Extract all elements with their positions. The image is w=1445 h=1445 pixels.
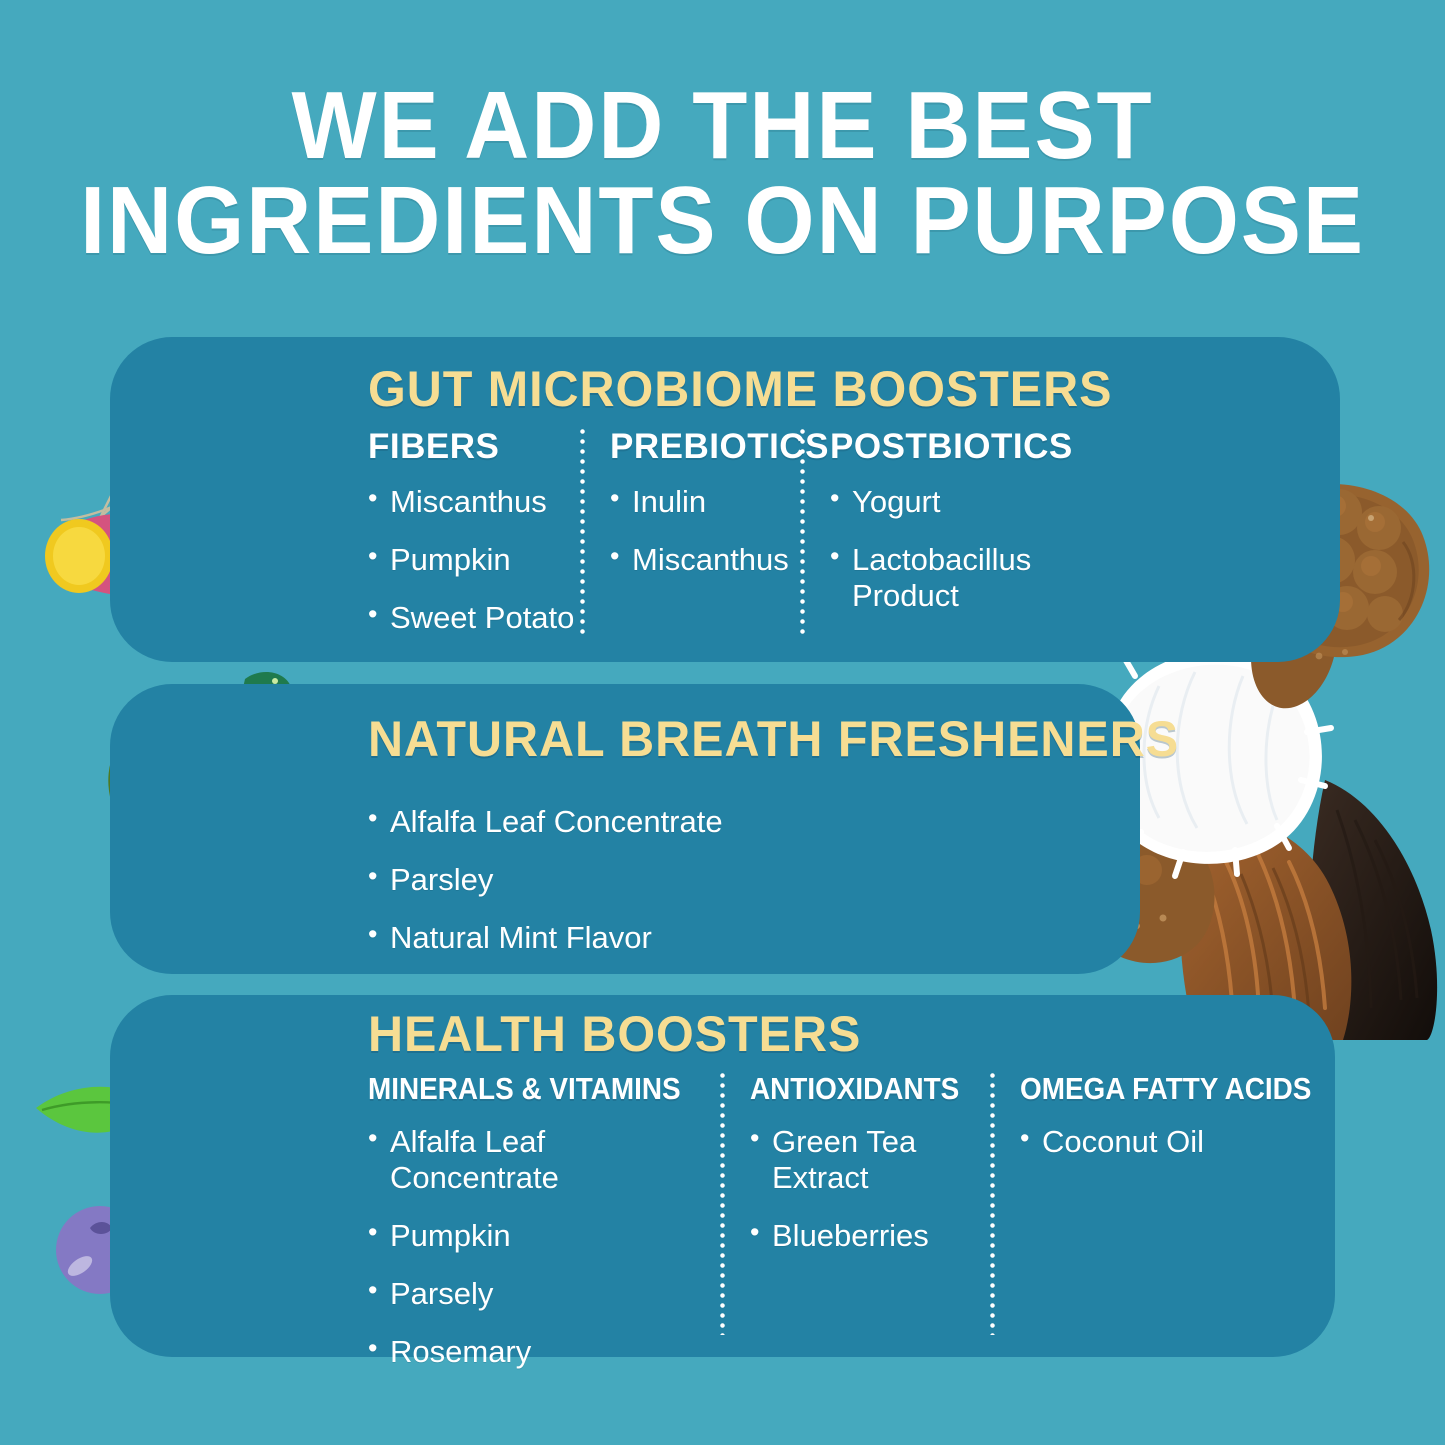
- column-antioxidants: ANTIOXIDANTS Green Tea Extract Blueberri…: [720, 1073, 990, 1370]
- column-head-antioxidants: ANTIOXIDANTS: [750, 1073, 966, 1104]
- list-breath-fresheners: Alfalfa Leaf Concentrate Parsley Natural…: [368, 804, 1088, 956]
- list-item: Inulin: [610, 484, 800, 520]
- column-divider-2: [800, 429, 805, 637]
- list-item: Blueberries: [750, 1218, 990, 1254]
- list-item: Natural Mint Flavor: [368, 920, 1088, 956]
- section-title-gut: GUT MICROBIOME BOOSTERS: [368, 364, 1112, 414]
- list-item: Miscanthus: [610, 542, 800, 578]
- column-omega-fatty-acids: OMEGA FATTY ACIDS Coconut Oil: [990, 1073, 1320, 1370]
- health-columns: MINERALS & VITAMINS Alfalfa Leaf Concent…: [368, 1073, 1328, 1370]
- list-item: Pumpkin: [368, 1218, 720, 1254]
- column-divider-4: [990, 1073, 995, 1335]
- column-head-omega-fatty-acids: OMEGA FATTY ACIDS: [1020, 1073, 1290, 1104]
- list-item: Alfalfa Leaf Concentrate: [368, 1124, 720, 1196]
- page-title: WE ADD THE BEST INGREDIENTS ON PURPOSE: [43, 78, 1401, 268]
- list-item: Rosemary: [368, 1334, 720, 1370]
- column-head-prebiotics: PREBIOTICS: [610, 429, 800, 464]
- card-natural-breath-fresheners: NATURAL BREATH FRESHENERS Alfalfa Leaf C…: [110, 684, 1140, 974]
- column-divider-1: [580, 429, 585, 637]
- page-title-line-1: WE ADD THE BEST: [43, 78, 1401, 173]
- list-antioxidants: Green Tea Extract Blueberries: [750, 1124, 990, 1254]
- infographic-poster: WE ADD THE BEST INGREDIENTS ON PURPOSE: [0, 0, 1445, 1445]
- list-item: Alfalfa Leaf Concentrate: [368, 804, 1088, 840]
- list-item: Parsely: [368, 1276, 720, 1312]
- column-fibers: FIBERS Miscanthus Pumpkin Sweet Potato: [368, 429, 580, 636]
- list-item: Yogurt: [830, 484, 1050, 520]
- section-title-health: HEALTH BOOSTERS: [368, 1009, 861, 1059]
- list-item: Parsley: [368, 862, 1088, 898]
- list-item: Lactobacillus Product: [830, 542, 1050, 614]
- list-postbiotics: Yogurt Lactobacillus Product: [830, 484, 1050, 614]
- list-prebiotics: Inulin Miscanthus: [610, 484, 800, 578]
- column-divider-3: [720, 1073, 725, 1335]
- gut-columns: FIBERS Miscanthus Pumpkin Sweet Potato P…: [368, 429, 1168, 636]
- section-title-breath: NATURAL BREATH FRESHENERS: [368, 714, 1179, 764]
- column-postbiotics: POSTBIOTICS Yogurt Lactobacillus Product: [800, 429, 1050, 636]
- column-head-fibers: FIBERS: [368, 429, 580, 464]
- column-minerals-vitamins: MINERALS & VITAMINS Alfalfa Leaf Concent…: [368, 1073, 720, 1370]
- column-head-minerals-vitamins: MINERALS & VITAMINS: [368, 1073, 685, 1104]
- list-item: Coconut Oil: [1020, 1124, 1320, 1160]
- column-prebiotics: PREBIOTICS Inulin Miscanthus: [580, 429, 800, 636]
- list-item: Miscanthus: [368, 484, 580, 520]
- list-item: Green Tea Extract: [750, 1124, 990, 1196]
- list-omega-fatty-acids: Coconut Oil: [1020, 1124, 1320, 1160]
- list-fibers: Miscanthus Pumpkin Sweet Potato: [368, 484, 580, 636]
- page-title-line-2: INGREDIENTS ON PURPOSE: [43, 173, 1401, 268]
- card-health-boosters: HEALTH BOOSTERS MINERALS & VITAMINS Alfa…: [110, 995, 1335, 1357]
- card-gut-microbiome-boosters: GUT MICROBIOME BOOSTERS FIBERS Miscanthu…: [110, 337, 1340, 662]
- column-head-postbiotics: POSTBIOTICS: [830, 429, 1050, 464]
- list-item: Pumpkin: [368, 542, 580, 578]
- list-minerals-vitamins: Alfalfa Leaf Concentrate Pumpkin Parsely…: [368, 1124, 720, 1370]
- list-item: Sweet Potato: [368, 600, 580, 636]
